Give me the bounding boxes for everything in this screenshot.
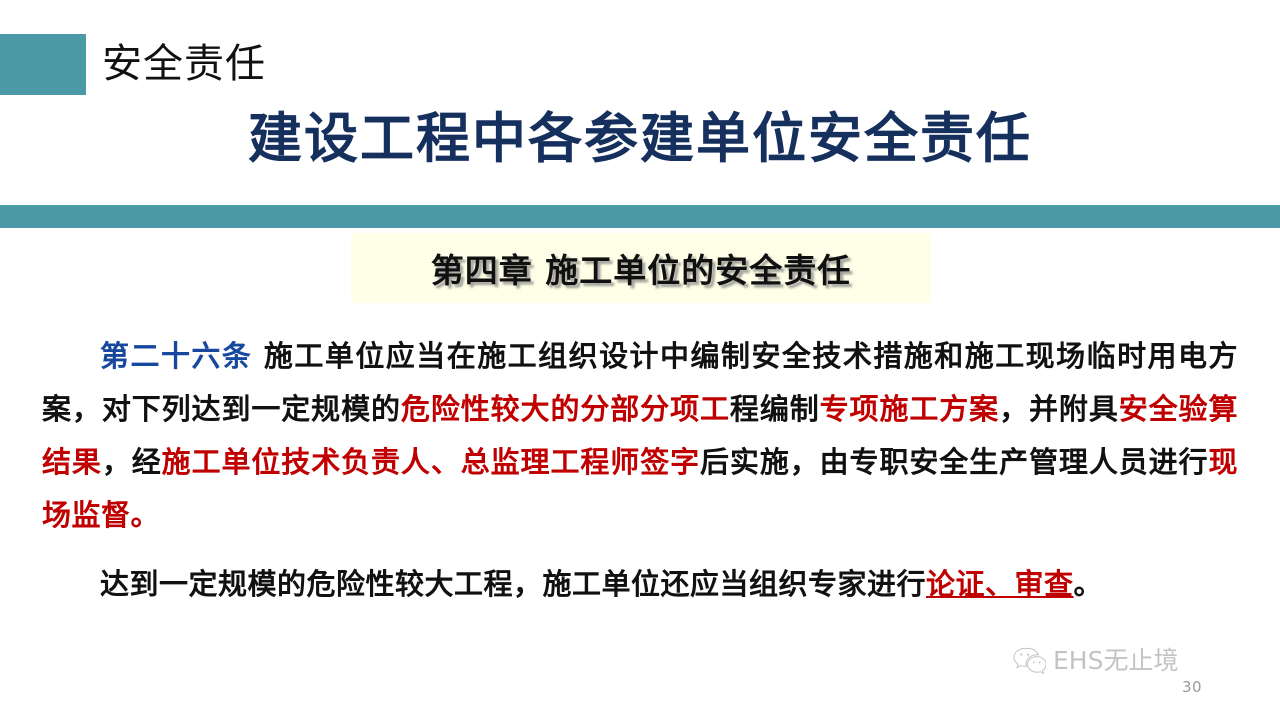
text-run: 专项施工方案 — [820, 392, 999, 426]
section-heading-label: 第四章 施工单位的安全责任 — [431, 244, 852, 292]
text-run: ，经 — [102, 445, 162, 479]
wechat-icon — [1012, 646, 1046, 676]
text-run: 。 — [1074, 567, 1104, 601]
text-run: 后实施，由专职安全生产管理人员进行 — [700, 445, 1208, 479]
kicker-label: 安全责任 — [102, 36, 266, 92]
watermark: EHS无止境 — [1012, 646, 1178, 676]
text-run: 危险性较大的分部分项工 — [401, 392, 730, 426]
paragraph-article-26: 第二十六条 施工单位应当在施工组织设计中编制安全技术措施和施工现场临时用电方案，… — [42, 330, 1238, 542]
section-heading-box: 第四章 施工单位的安全责任 — [351, 233, 931, 303]
text-run: ，并附具 — [999, 392, 1119, 426]
slide-canvas: 安全责任 建设工程中各参建单位安全责任 第四章 施工单位的安全责任 第二十六条 … — [0, 0, 1280, 720]
page-title: 建设工程中各参建单位安全责任 — [0, 104, 1280, 174]
watermark-label: EHS无止境 — [1053, 647, 1178, 675]
header-divider-bar — [0, 205, 1280, 228]
text-run: 施工单位技术负责人、总监理工程师签字 — [162, 445, 700, 479]
kicker-accent-square — [0, 34, 86, 95]
text-run: 论证、审查 — [926, 567, 1074, 601]
body-content: 第二十六条 施工单位应当在施工组织设计中编制安全技术措施和施工现场临时用电方案，… — [42, 330, 1238, 611]
text-run: 第二十六条 — [100, 339, 252, 373]
page-number: 30 — [1182, 678, 1202, 696]
paragraph-expert-review: 达到一定规模的危险性较大工程，施工单位还应当组织专家进行论证、审查。 — [42, 558, 1238, 611]
text-run: 程编制 — [730, 392, 820, 426]
text-run: 达到一定规模的危险性较大工程，施工单位还应当组织专家进行 — [100, 567, 926, 601]
